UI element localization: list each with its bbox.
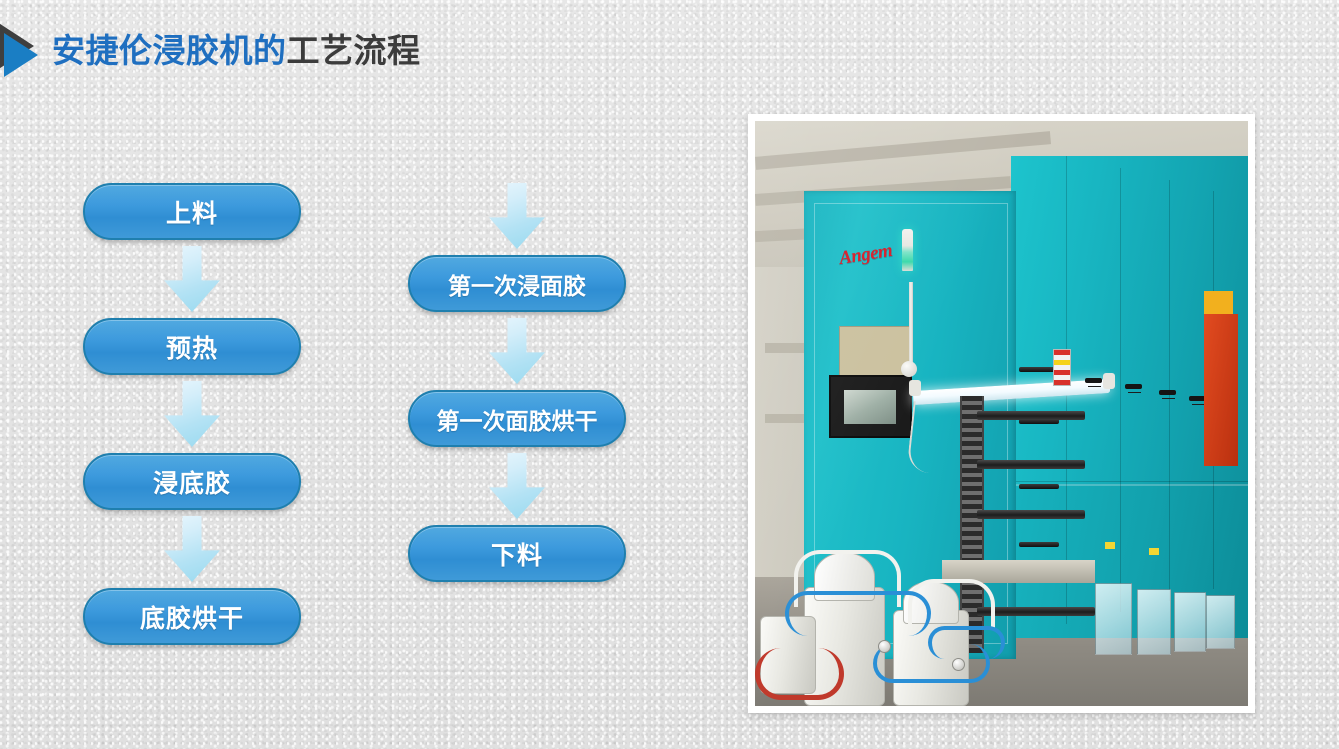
red-hose [755,648,844,700]
machine-seam [1120,168,1121,613]
cabinet-latch-handle [1159,390,1176,395]
conveyor-rung [977,460,1085,469]
yellow-sticker [1105,542,1115,549]
flow-step-dijiaohonggan[interactable]: 底胶烘干 [83,588,301,645]
page-title: 安捷伦浸胶机的工艺流程 [52,34,421,67]
signal-tower-pole [909,282,913,364]
machine-hmi-panel [829,375,912,438]
flow-column-right: 第一次浸面胶 第一次面胶烘干 下料 [408,183,626,582]
flow-arrow-down-icon [164,246,220,312]
lamp-end-cap [1103,373,1115,389]
flow-step-diyicijinmianjiao[interactable]: 第一次浸面胶 [408,255,626,312]
machine-seam [1011,481,1248,482]
cabinet-door-handle [1019,419,1059,424]
flow-step-jindijiao[interactable]: 浸底胶 [83,453,301,510]
inspection-window [1174,592,1206,653]
conveyor-rung [977,411,1085,420]
pressure-gauge [952,658,965,671]
flow-arrow-down-icon [489,453,545,519]
cabinet-door-handle [1019,542,1059,547]
signal-tower-light-icon [902,229,913,271]
machine-photo-frame: Angem [748,114,1255,713]
blue-air-hose [785,591,931,636]
yellow-sticker [1149,548,1159,555]
flow-step-xialiao[interactable]: 下料 [408,525,626,582]
blue-air-hose [928,626,1005,659]
inspection-window [1095,583,1132,655]
machine-photo: Angem [755,121,1248,706]
page-title-segment-blue: 安捷伦浸胶机的 [52,32,287,69]
flow-step-yure[interactable]: 预热 [83,318,301,375]
inspection-window [1206,595,1235,650]
inspection-window [1137,589,1171,655]
cabinet-door-handle [1019,484,1059,489]
machine-hmi-screen [844,390,896,424]
cabinet-latch-handle [1085,378,1102,383]
machine-nameplate [839,326,910,381]
flow-step-shangliao[interactable]: 上料 [83,183,301,240]
signal-tower-joint [901,361,917,377]
warning-label [1053,349,1071,386]
cabinet-latch-handle [1125,384,1142,389]
lamp-end-cap [909,380,921,396]
flow-column-left: 上料 预热 浸底胶 底胶烘干 [83,183,301,645]
slide-title-bar: 安捷伦浸胶机的工艺流程 [0,14,421,86]
flow-step-diyicimianjiaohonggan[interactable]: 第一次面胶烘干 [408,390,626,447]
title-marker [0,14,46,86]
page-title-segment-dark: 工艺流程 [287,32,421,69]
background-red-cabinet [1204,314,1239,466]
triangle-front-icon [4,33,38,77]
flow-arrow-down-icon [164,381,220,447]
flow-arrow-down-icon [489,318,545,384]
conveyor-rung [977,510,1085,519]
slide-canvas: 安捷伦浸胶机的工艺流程 上料 预热 浸底胶 底胶烘干 第一次浸面胶 第一次面胶烘… [0,0,1339,749]
flow-arrow-down-icon [489,183,545,249]
flow-arrow-down-icon [164,516,220,582]
